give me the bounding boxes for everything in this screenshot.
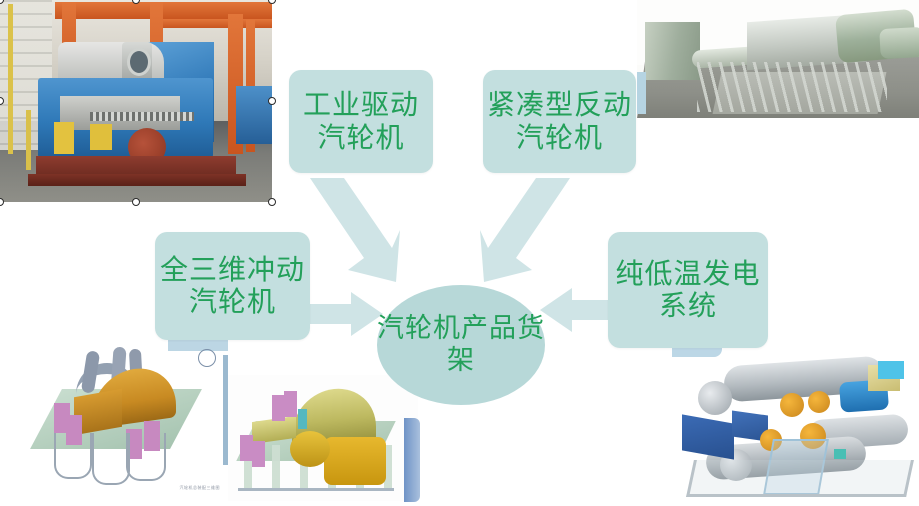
node-industrial-drive-turbine[interactable]: 工业驱动汽轮机 [289, 70, 433, 173]
arrow-from-industrial [300, 178, 400, 288]
turbine-rotor-end [324, 437, 386, 485]
yellow-rail [8, 4, 13, 154]
condenser-loop-3 [126, 433, 166, 481]
arrow-from-lowtemp [540, 288, 618, 334]
condenser-loop-2 [92, 433, 130, 485]
generator-housing [645, 22, 700, 80]
arrow-from-compact [480, 178, 580, 288]
cad-skid-package[interactable] [672, 345, 919, 503]
node-center-label: 汽轮机产品货架 [377, 313, 545, 377]
second-turbine [236, 86, 272, 144]
factory-turbine-photo[interactable] [0, 0, 272, 202]
cad-orange-turbine[interactable]: 汽轮机总装配三维图 [18, 337, 228, 497]
flange-opening [127, 48, 151, 76]
support-spring-4 [252, 441, 265, 467]
yellow-support-2 [90, 124, 112, 150]
slide-canvas: 汽轮机总装配三维图 [0, 0, 919, 506]
decor-blue-tab [637, 72, 646, 114]
company-logo-icon [198, 349, 216, 367]
selection-handle-se[interactable] [268, 198, 276, 206]
red-support-frame-2 [28, 174, 246, 186]
node-compact-reaction-turbine[interactable]: 紧凑型反动汽轮机 [483, 70, 636, 173]
condenser-loop-1 [54, 433, 92, 479]
cad-caption: 汽轮机总装配三维图 [180, 485, 221, 491]
piping-network [697, 62, 887, 112]
cad-yellow-turbine[interactable] [228, 375, 418, 501]
blue-control-box [682, 414, 734, 459]
node-compact-label: 紧凑型反动汽轮机 [483, 89, 636, 154]
node-lowtemp-label: 纯低温发电系统 [608, 258, 768, 323]
node-center-product-shelf[interactable]: 汽轮机产品货架 [377, 285, 545, 405]
turbine-inner-rotor [290, 431, 330, 467]
orange-valve-2 [808, 391, 830, 413]
turbine-blade-row [90, 112, 194, 121]
yellow-rail-2 [26, 110, 31, 170]
vessel-end-cap-1 [698, 381, 732, 415]
selection-handle-e[interactable] [268, 97, 276, 105]
orange-valve-1 [780, 393, 804, 417]
lp-casing-end [879, 27, 919, 59]
selection-handle-s[interactable] [132, 198, 140, 206]
floor-rail [238, 488, 394, 491]
teal-fitting [298, 409, 307, 429]
skid-frame [686, 460, 914, 497]
plant-3d-render[interactable] [637, 0, 919, 118]
support-spring-2 [284, 391, 297, 417]
arrow-from-impulse [305, 292, 383, 338]
decor-blue-curve [404, 418, 420, 502]
node-low-temp-power-system[interactable]: 纯低温发电系统 [608, 232, 768, 348]
node-industrial-label: 工业驱动汽轮机 [289, 89, 433, 154]
yellow-support-1 [54, 122, 74, 154]
cyan-panel [878, 361, 904, 379]
teal-fitting [834, 449, 846, 459]
node-full-3d-impulse-turbine[interactable]: 全三维冲动汽轮机 [155, 232, 310, 340]
node-impulse-label: 全三维冲动汽轮机 [155, 254, 310, 319]
selection-handle-sw[interactable] [0, 198, 4, 206]
selection-handle-ne[interactable] [268, 0, 276, 4]
